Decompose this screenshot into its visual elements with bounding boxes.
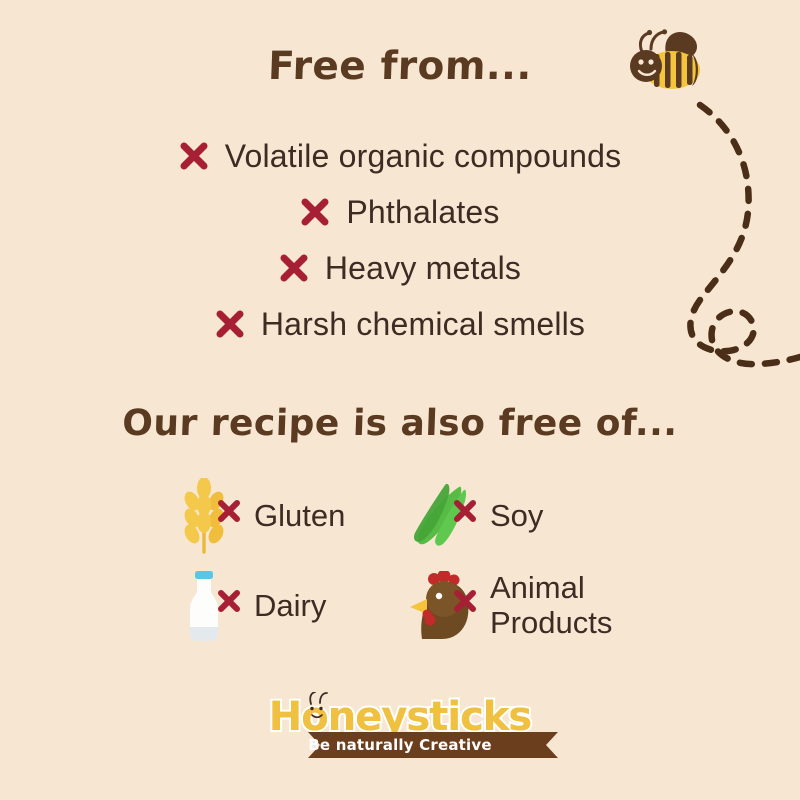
grid-item-soy: Soy — [404, 472, 648, 560]
logo-bee-face-icon — [302, 692, 332, 726]
x-mark-icon — [300, 197, 330, 227]
x-mark-icon — [452, 588, 478, 614]
x-mark-icon — [279, 253, 309, 283]
list-item-label: Harsh chemical smells — [261, 306, 585, 343]
list-item: Heavy metals — [0, 240, 800, 296]
x-mark-icon — [216, 498, 242, 524]
list-item: Volatile organic compounds — [0, 128, 800, 184]
x-mark-icon — [452, 498, 478, 524]
grid-item-label: Gluten — [254, 499, 345, 534]
x-mark-icon — [216, 588, 242, 614]
list-item-label: Heavy metals — [325, 250, 521, 287]
grid-item-label: Dairy — [254, 589, 326, 624]
free-from-heading: Free from... — [0, 44, 800, 89]
grid-item-label: Animal Products — [490, 571, 648, 640]
list-item: Harsh chemical smells — [0, 296, 800, 352]
grid-item-gluten: Gluten — [168, 472, 404, 560]
also-free-of-heading: Our recipe is also free of... — [0, 403, 800, 444]
bee-flight-trail — [0, 0, 800, 800]
list-item: Phthalates — [0, 184, 800, 240]
also-free-of-grid: Gluten Soy Dairy — [168, 472, 648, 652]
logo-tagline: Be naturally Creative — [308, 736, 491, 754]
list-item-label: Phthalates — [346, 194, 499, 231]
grid-item-dairy: Dairy — [168, 560, 404, 652]
list-item-label: Volatile organic compounds — [225, 138, 622, 175]
free-from-list: Volatile organic compounds Phthalates He… — [0, 128, 800, 352]
brand-logo[interactable]: Honeysticks Honeysticks Be naturally Cre… — [0, 694, 800, 758]
logo-ribbon: Be naturally Creative — [308, 732, 491, 758]
grid-item-animal-products: Animal Products — [404, 560, 648, 652]
x-mark-icon — [179, 141, 209, 171]
x-mark-icon — [215, 309, 245, 339]
grid-item-label: Soy — [490, 499, 543, 534]
